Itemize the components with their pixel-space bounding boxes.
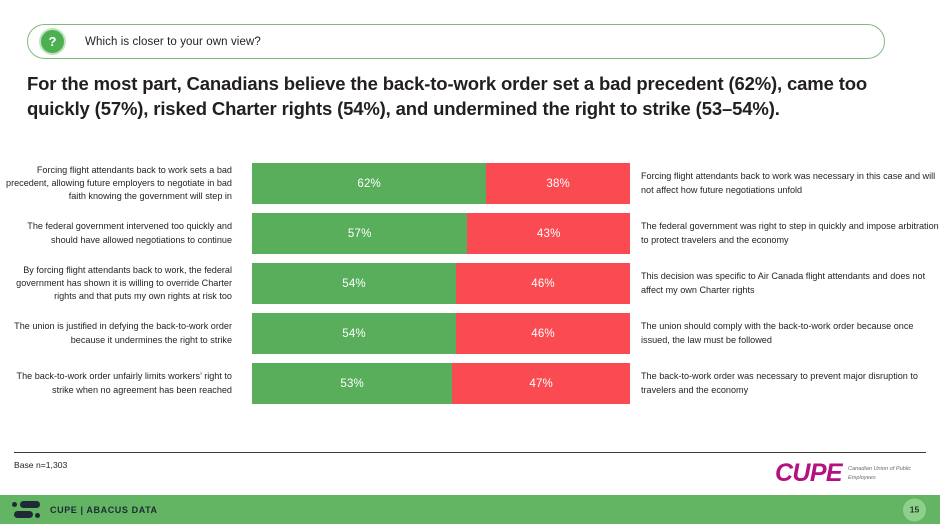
page-title: For the most part, Canadians believe the… (27, 72, 907, 121)
bar-segment-disagree: 43% (467, 213, 630, 254)
bar-segment-agree: 54% (252, 263, 456, 304)
question-mark-circle-icon: ? (39, 28, 66, 55)
footer-bar: CUPE | ABACUS DATA 15 (0, 495, 940, 524)
base-note: Base n=1,303 (14, 460, 67, 470)
mark-dot-bottom (35, 513, 40, 518)
row-left-label: Forcing flight attendants back to work s… (0, 164, 252, 204)
row-right-label: The union should comply with the back-to… (630, 320, 940, 346)
question-banner-text: Which is closer to your own view? (85, 36, 261, 48)
chart-row: The union is justified in defying the ba… (0, 313, 940, 354)
footer-divider (14, 452, 926, 453)
row-right-label: The federal government was right to step… (630, 220, 940, 246)
bar-segment-disagree: 38% (486, 163, 630, 204)
question-banner: ? Which is closer to your own view? (27, 24, 885, 59)
row-bars: 54%46% (252, 263, 630, 304)
row-bars: 53%47% (252, 363, 630, 404)
row-bars: 62%38% (252, 163, 630, 204)
row-left-label: The back-to-work order unfairly limits w… (0, 370, 252, 396)
row-bars: 54%46% (252, 313, 630, 354)
bar-segment-disagree: 46% (456, 313, 630, 354)
footer-brand-text: CUPE | ABACUS DATA (50, 505, 158, 515)
row-left-label: The federal government intervened too qu… (0, 220, 252, 246)
row-right-label: The back-to-work order was necessary to … (630, 370, 940, 396)
row-right-label: This decision was specific to Air Canada… (630, 270, 940, 296)
chart-row: The federal government intervened too qu… (0, 213, 940, 254)
row-left-label: The union is justified in defying the ba… (0, 320, 252, 346)
chart-row: By forcing flight attendants back to wor… (0, 263, 940, 304)
page-number-badge: 15 (903, 498, 926, 521)
cupe-logo: CUPE Canadian Union of Public Employees (775, 461, 918, 486)
row-left-label: By forcing flight attendants back to wor… (0, 264, 252, 304)
bar-segment-agree: 54% (252, 313, 456, 354)
bar-segment-disagree: 46% (456, 263, 630, 304)
cupe-wordmark: CUPE (775, 461, 842, 486)
mark-bar-bottom (14, 511, 33, 518)
diverging-bar-chart: Forcing flight attendants back to work s… (0, 163, 940, 413)
chart-row: Forcing flight attendants back to work s… (0, 163, 940, 204)
mark-bar-top (20, 501, 40, 508)
bar-segment-disagree: 47% (452, 363, 630, 404)
chart-row: The back-to-work order unfairly limits w… (0, 363, 940, 404)
mark-dot-top (12, 502, 17, 507)
bar-segment-agree: 62% (252, 163, 486, 204)
cupe-tagline: Canadian Union of Public Employees (848, 465, 918, 481)
cupe-abacus-mark-icon (12, 501, 40, 518)
row-bars: 57%43% (252, 213, 630, 254)
row-right-label: Forcing flight attendants back to work w… (630, 170, 940, 196)
bar-segment-agree: 53% (252, 363, 452, 404)
bar-segment-agree: 57% (252, 213, 467, 254)
